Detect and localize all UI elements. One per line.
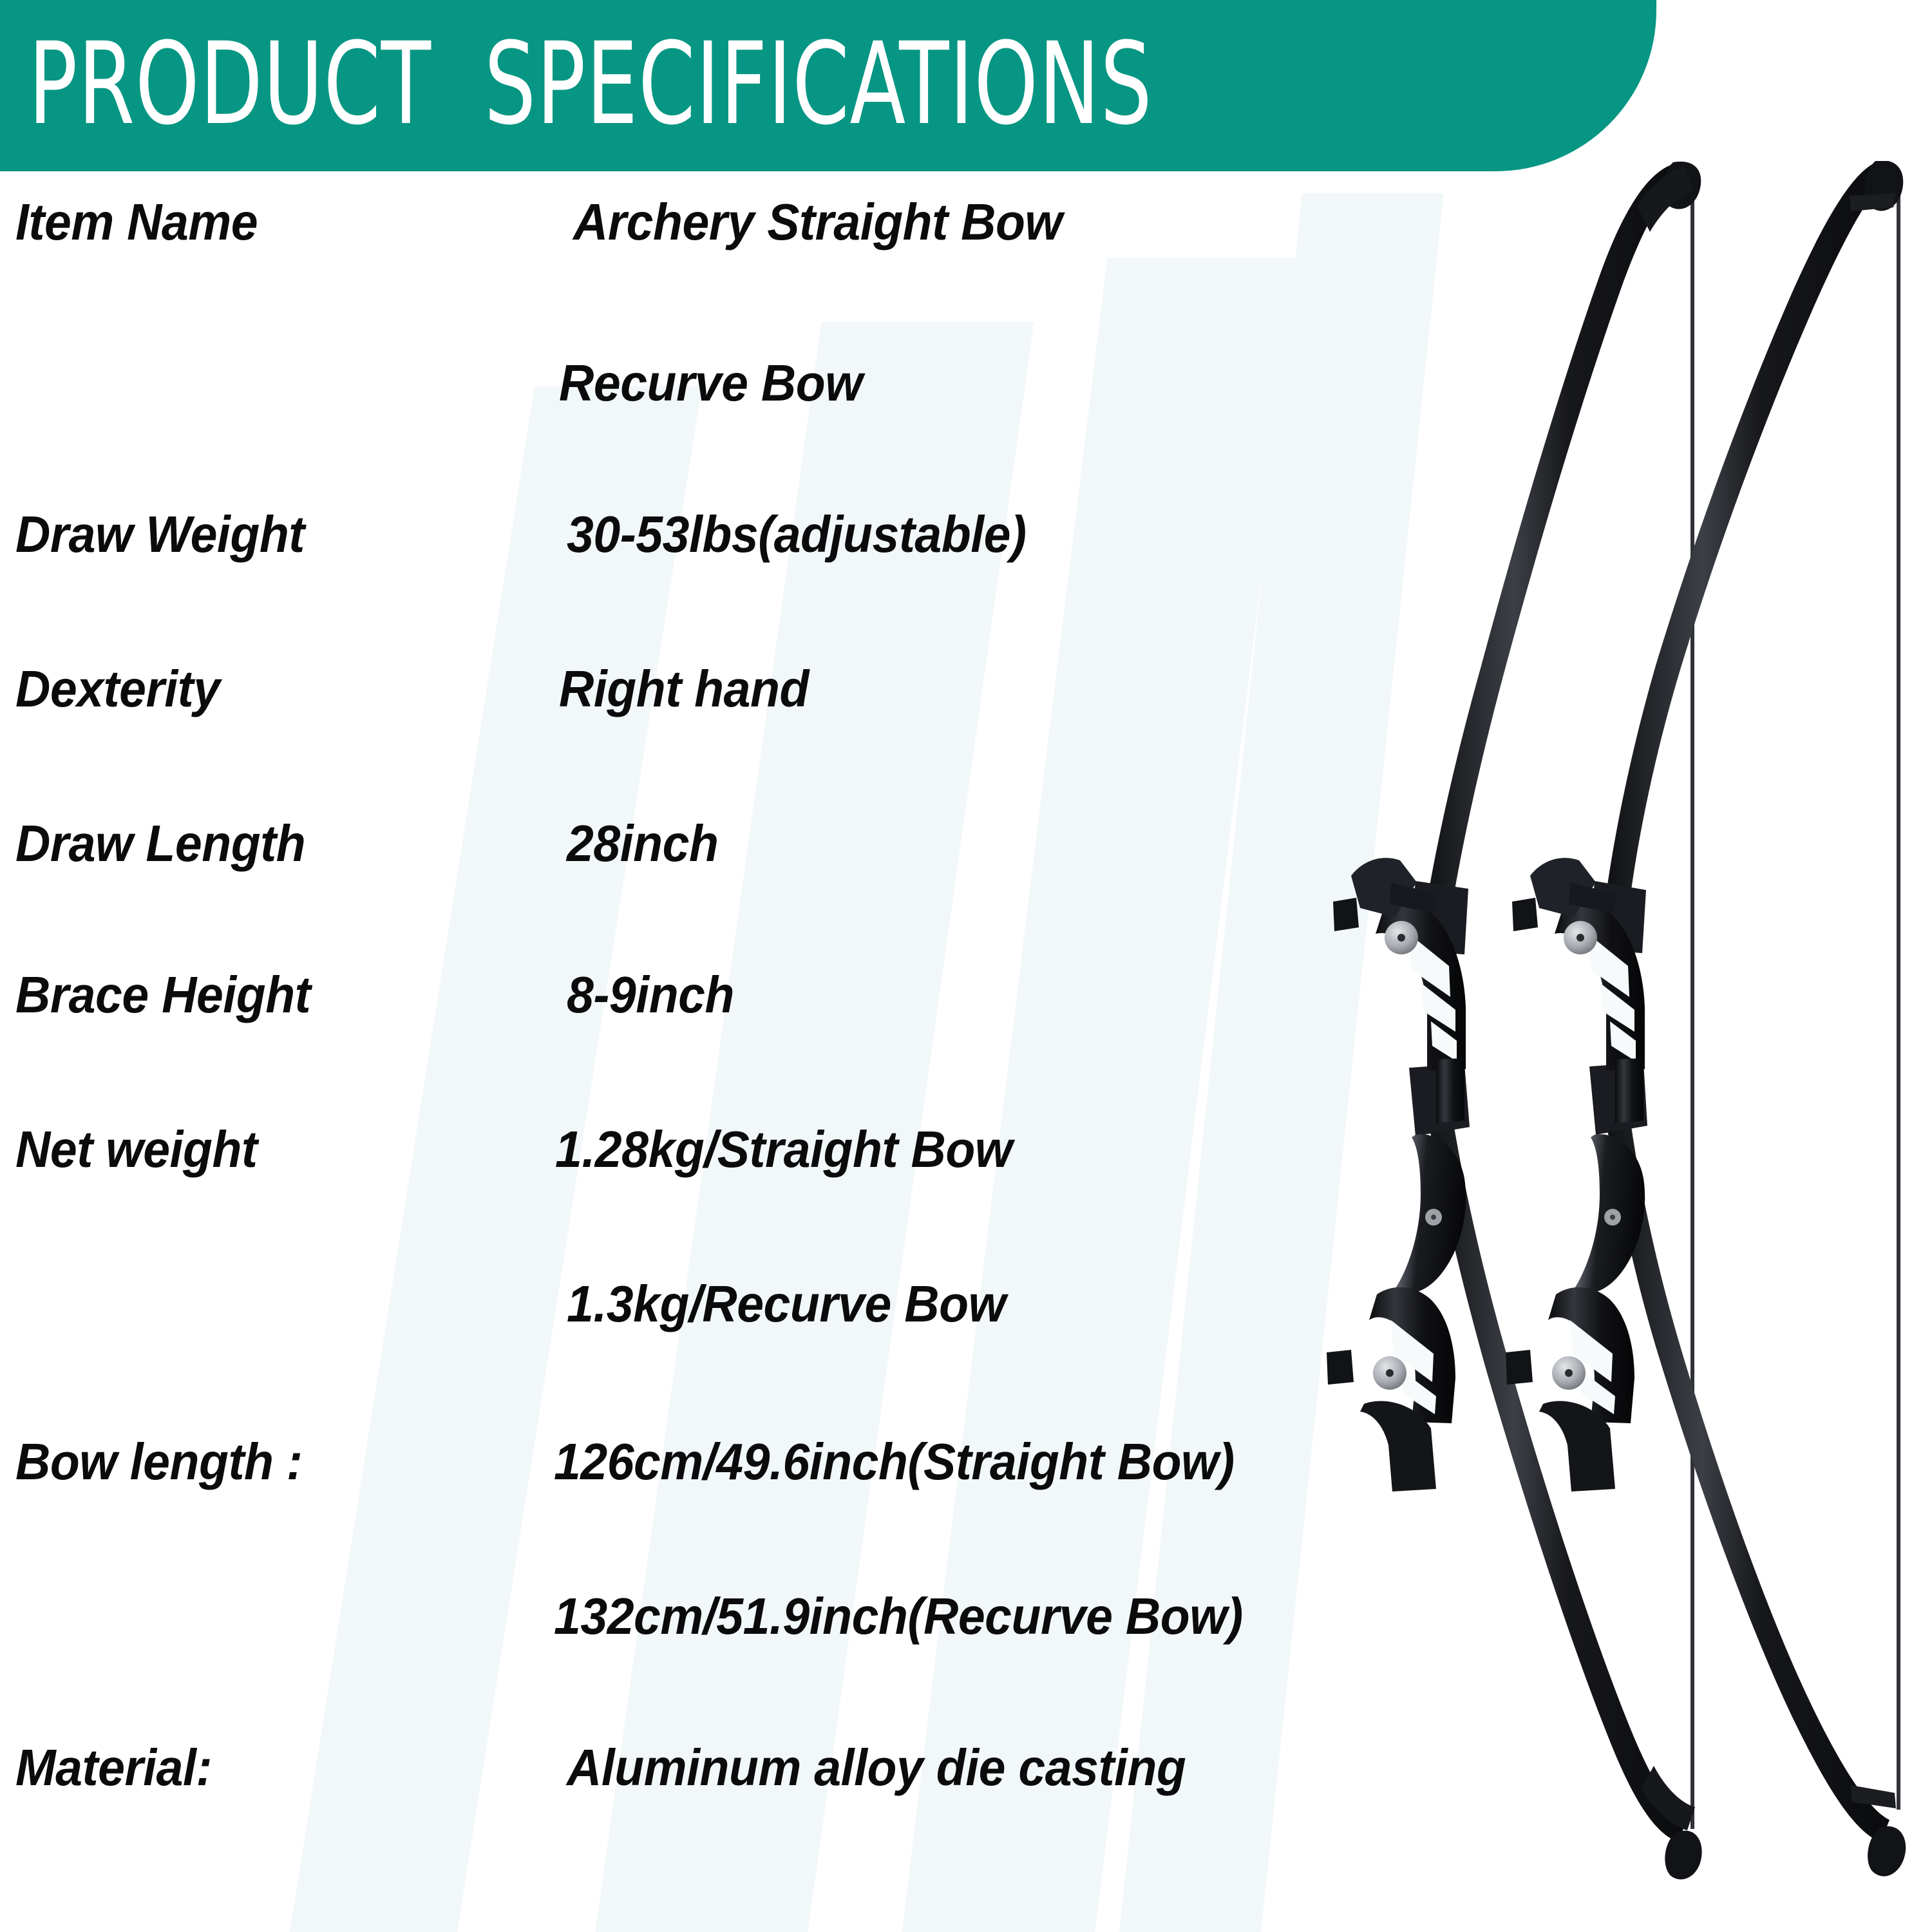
spec-value-draw-weight: 30-53lbs(adjustable) xyxy=(567,509,1027,560)
spec-label-brace-height: Brace Height xyxy=(15,969,310,1021)
upper-limb-left xyxy=(1421,164,1687,943)
product-images xyxy=(1243,161,1932,1900)
stabilizer-bushing-lower-left xyxy=(1327,1350,1354,1385)
spec-label-material: Material: xyxy=(15,1742,212,1794)
spec-label-net-weight: Net weight xyxy=(15,1124,257,1175)
limb-bolt-upper-center-right xyxy=(1577,934,1584,942)
spec-value-bow-length-cont: 132cm/51.9inch(Recurve Bow) xyxy=(554,1591,1243,1642)
riser-window-left xyxy=(1436,1058,1464,1123)
spec-label-draw-length: Draw Length xyxy=(15,818,305,869)
grip-screw-center-left xyxy=(1431,1215,1436,1220)
spec-label-draw-weight: Draw Weight xyxy=(15,509,305,560)
spec-value-net-weight: 1.28kg/Straight Bow xyxy=(555,1124,1012,1175)
spec-value-dexterity: Right hand xyxy=(559,663,809,715)
spec-value-item-name: Archery Straight Bow xyxy=(573,196,1062,248)
spec-label-bow-length: Bow length : xyxy=(15,1436,302,1488)
recurve-bow-image xyxy=(1327,162,1702,1879)
stabilizer-bushing-upper-right xyxy=(1512,898,1538,931)
spec-value-net-weight-cont: 1.3kg/Recurve Bow xyxy=(567,1278,1006,1330)
bows-illustration xyxy=(1243,161,1932,1900)
spec-value-draw-length: 28inch xyxy=(567,818,718,869)
spec-label-dexterity: Dexterity xyxy=(15,663,220,715)
limb-bolt-upper-center-left xyxy=(1397,934,1405,942)
spec-value-brace-height: 8-9inch xyxy=(567,969,734,1021)
limb-bolt-lower-center-right xyxy=(1565,1369,1573,1377)
grip-screw-center-right xyxy=(1610,1215,1615,1220)
riser-window-right xyxy=(1615,1058,1643,1123)
stabilizer-bushing-lower-right xyxy=(1506,1350,1533,1385)
spec-value-bow-length: 126cm/49.6inch(Straight Bow) xyxy=(554,1436,1235,1488)
spec-value-item-name-cont: Recurve Bow xyxy=(559,357,862,409)
upper-limb-right xyxy=(1601,161,1891,938)
stabilizer-bushing-upper-left xyxy=(1333,898,1359,931)
limb-bolt-lower-center-left xyxy=(1386,1369,1394,1377)
spec-value-material: Aluminum alloy die casting xyxy=(567,1742,1186,1794)
product-specification-page: PRODUCT SPECIFICATIONS Item Name Archery… xyxy=(0,0,1932,1932)
spec-label-item-name: Item Name xyxy=(15,196,258,248)
